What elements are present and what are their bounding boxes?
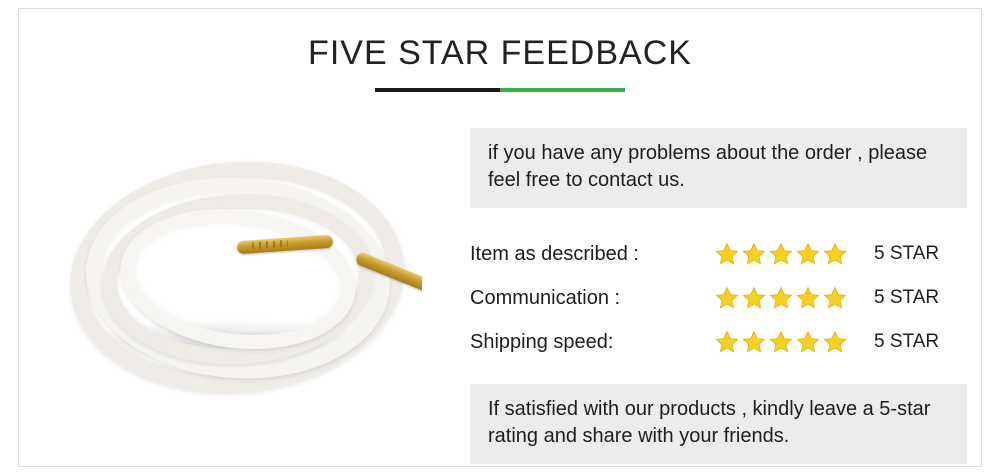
star-icon xyxy=(742,330,766,354)
product-image xyxy=(52,118,422,418)
feedback-content: if you have any problems about the order… xyxy=(470,128,970,464)
star-icon xyxy=(715,242,739,266)
star-icon xyxy=(715,330,739,354)
rating-label: Communication : xyxy=(470,287,715,310)
title-underline-green-segment xyxy=(500,88,625,92)
rating-value: 5 STAR xyxy=(874,287,939,309)
star-icon xyxy=(796,330,820,354)
star-icon xyxy=(823,330,847,354)
rating-row: Communication : 5 STAR xyxy=(470,276,970,320)
rating-value: 5 STAR xyxy=(874,243,939,265)
star-rating xyxy=(715,330,860,354)
star-icon xyxy=(769,330,793,354)
rating-label: Item as described : xyxy=(470,243,715,266)
star-icon xyxy=(769,286,793,310)
star-icon xyxy=(823,286,847,310)
star-icon xyxy=(796,242,820,266)
star-icon xyxy=(715,286,739,310)
title-underline-dark-segment xyxy=(375,88,500,92)
ratings-list: Item as described : 5 STAR Communication… xyxy=(470,232,970,364)
page-title: FIVE STAR FEEDBACK xyxy=(0,34,1000,73)
rating-row: Shipping speed: 5 STAR xyxy=(470,320,970,364)
star-icon xyxy=(742,286,766,310)
rating-label: Shipping speed: xyxy=(470,331,715,354)
feedback-banner: FIVE STAR FEEDBACK if you have any probl… xyxy=(0,0,1000,475)
contact-note: if you have any problems about the order… xyxy=(470,128,967,208)
star-icon xyxy=(823,242,847,266)
spacer xyxy=(470,364,970,384)
title-underline xyxy=(375,88,625,92)
star-icon xyxy=(796,286,820,310)
rating-value: 5 STAR xyxy=(874,331,939,353)
star-icon xyxy=(769,242,793,266)
rating-row: Item as described : 5 STAR xyxy=(470,232,970,276)
star-icon xyxy=(742,242,766,266)
bracelet-cords xyxy=(62,138,412,388)
star-rating xyxy=(715,286,860,310)
star-rating xyxy=(715,242,860,266)
satisfaction-note: If satisfied with our products , kindly … xyxy=(470,384,967,464)
